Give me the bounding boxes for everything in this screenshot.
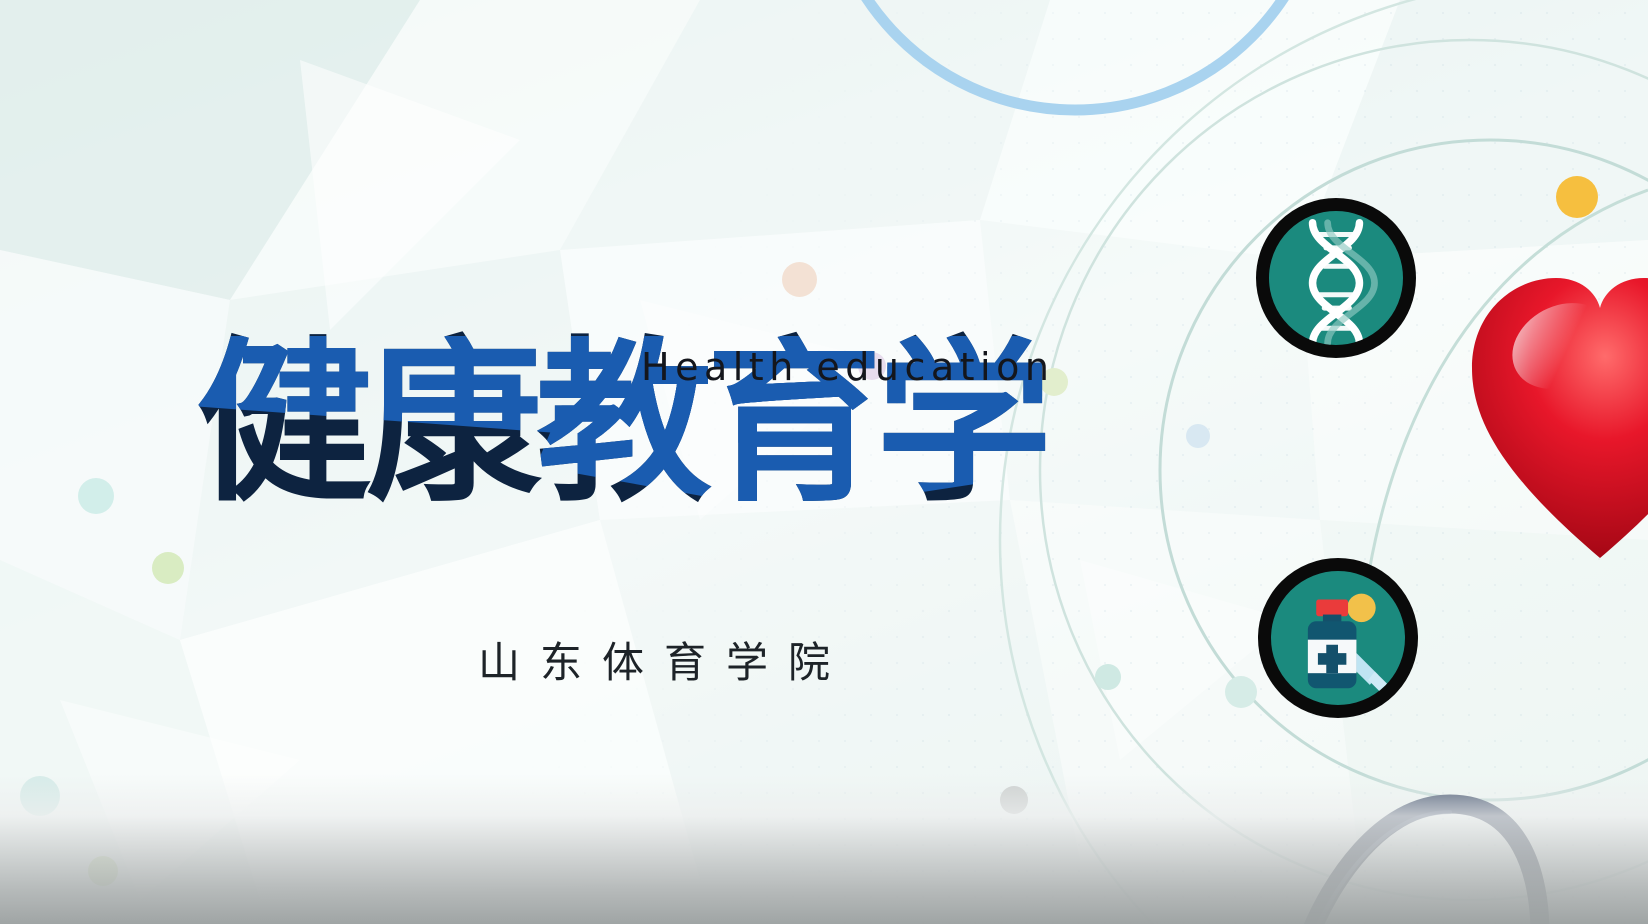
stethoscope-icon [1290,764,1648,924]
title-block: 健康教育学 健康教育学 健康教育学 Health education 山东体育学… [0,0,1180,924]
yellow-dot-icon [1556,176,1598,218]
heart-icon [1470,268,1648,568]
dot-mint-bottom [1225,676,1257,708]
subtitle-english: Health education [641,345,1054,389]
organization-name: 山东体育学院 [478,629,850,690]
dna-helix-icon [1256,198,1416,358]
dot-blue-mid [1186,424,1210,448]
presentation-slide: 健康教育学 健康教育学 健康教育学 Health education 山东体育学… [0,0,1648,924]
medicine-bottle-icon [1258,558,1418,718]
